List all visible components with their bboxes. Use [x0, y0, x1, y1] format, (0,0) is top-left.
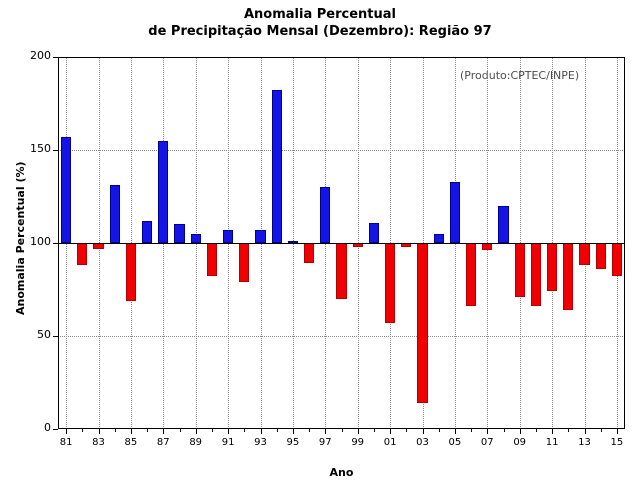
x-tick-mark [342, 429, 343, 432]
x-tick-label: 09 [505, 437, 535, 448]
x-tick-mark [423, 429, 424, 434]
x-tick-mark [66, 429, 67, 434]
x-tick-label: 15 [602, 437, 632, 448]
x-tick-mark [277, 429, 278, 432]
x-tick-label: 03 [408, 437, 438, 448]
x-tick-label: 91 [213, 437, 243, 448]
x-tick-mark [390, 429, 391, 434]
x-tick-label: 99 [343, 437, 373, 448]
x-tick-label: 05 [440, 437, 470, 448]
x-tick-label: 87 [148, 437, 178, 448]
x-tick-mark [309, 429, 310, 432]
x-tick-mark [261, 429, 262, 434]
x-tick-label: 01 [375, 437, 405, 448]
x-tick-mark [536, 429, 537, 432]
x-tick-mark [455, 429, 456, 434]
x-tick-mark [131, 429, 132, 434]
x-tick-mark [196, 429, 197, 434]
x-tick-mark [212, 429, 213, 432]
x-tick-label: 93 [246, 437, 276, 448]
x-tick-mark [585, 429, 586, 434]
x-tick-mark [325, 429, 326, 434]
chart-root: Anomalia Percentual de Precipitação Mens… [0, 0, 640, 500]
x-tick-mark [487, 429, 488, 434]
x-tick-mark [568, 429, 569, 432]
x-tick-mark [115, 429, 116, 432]
x-tick-mark [471, 429, 472, 432]
y-tick-label: 200 [6, 49, 51, 62]
x-tick-label: 85 [116, 437, 146, 448]
x-tick-label: 83 [84, 437, 114, 448]
x-tick-mark [374, 429, 375, 432]
x-tick-label: 13 [570, 437, 600, 448]
x-tick-mark [601, 429, 602, 432]
x-tick-mark [163, 429, 164, 434]
chart-title: Anomalia Percentual de Precipitação Mens… [0, 6, 640, 40]
x-tick-mark [228, 429, 229, 434]
x-tick-label: 81 [51, 437, 81, 448]
x-tick-mark [358, 429, 359, 434]
y-tick-mark [53, 429, 58, 430]
x-tick-mark [244, 429, 245, 432]
y-tick-label: 150 [6, 142, 51, 155]
x-tick-mark [82, 429, 83, 432]
x-tick-label: 97 [310, 437, 340, 448]
x-tick-mark [617, 429, 618, 434]
plot-frame [58, 57, 625, 429]
x-tick-mark [406, 429, 407, 432]
x-tick-mark [293, 429, 294, 434]
x-tick-mark [520, 429, 521, 434]
x-tick-label: 89 [181, 437, 211, 448]
x-tick-label: 95 [278, 437, 308, 448]
x-tick-label: 11 [537, 437, 567, 448]
y-tick-label: 50 [6, 328, 51, 341]
x-tick-label: 07 [472, 437, 502, 448]
chart-title-line-2: de Precipitação Mensal (Dezembro): Regiã… [0, 23, 640, 40]
y-tick-label: 0 [6, 421, 51, 434]
x-tick-mark [439, 429, 440, 432]
x-axis-label: Ano [58, 466, 625, 479]
chart-title-line-1: Anomalia Percentual [0, 6, 640, 23]
x-tick-mark [147, 429, 148, 432]
y-tick-label: 100 [6, 235, 51, 248]
x-tick-mark [504, 429, 505, 432]
x-tick-mark [552, 429, 553, 434]
x-tick-mark [180, 429, 181, 432]
x-tick-mark [99, 429, 100, 434]
